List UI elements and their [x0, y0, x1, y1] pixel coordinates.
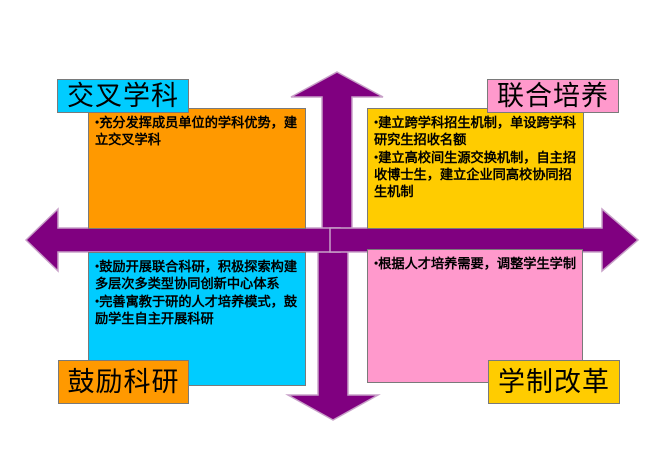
quadrant-label-text: 鼓励科研: [68, 369, 180, 396]
bullet-list-bottom-left: •鼓励开展联合科研，积极探索构建多层次多类型协同创新中心体系 •完善寓教于研的人…: [95, 259, 300, 328]
bullet-text: 完善寓教于研的人才培养模式，鼓励学生自主开展科研: [95, 294, 297, 326]
bullet-text: 鼓励开展联合科研，积极探索构建多层次多类型协同创新中心体系: [95, 259, 297, 291]
quadrant-label-top-left[interactable]: 交叉学科: [57, 79, 189, 113]
quadrant-box-top-right: •建立跨学科招生机制，单设跨学科研究生招收名额 •建立高校间生源交换机制，自主招…: [367, 108, 584, 229]
quadrant-label-text: 学制改革: [498, 369, 610, 396]
list-item: •完善寓教于研的人才培养模式，鼓励学生自主开展科研: [95, 294, 300, 328]
list-item: •根据人才培养需要，调整学生学制: [374, 256, 577, 273]
bullet-list-bottom-right: •根据人才培养需要，调整学生学制: [374, 256, 577, 273]
bullet-list-top-left: •充分发挥成员单位的学科优势，建立交叉学科: [95, 115, 300, 149]
list-item: •建立跨学科招生机制，单设跨学科研究生招收名额: [374, 115, 578, 149]
diagram-canvas: •充分发挥成员单位的学科优势，建立交叉学科 交叉学科 •建立跨学科招生机制，单设…: [0, 0, 660, 465]
quadrant-label-top-right[interactable]: 联合培养: [487, 79, 619, 113]
quadrant-label-bottom-left[interactable]: 鼓励科研: [58, 360, 189, 404]
quadrant-label-text: 交叉学科: [67, 83, 179, 110]
bullet-text: 充分发挥成员单位的学科优势，建立交叉学科: [95, 115, 297, 147]
bullet-text: 建立跨学科招生机制，单设跨学科研究生招收名额: [374, 115, 576, 147]
quadrant-box-top-left: •充分发挥成员单位的学科优势，建立交叉学科: [88, 108, 306, 229]
bullet-text: 根据人才培养需要，调整学生学制: [378, 256, 576, 271]
bullet-list-top-right: •建立跨学科招生机制，单设跨学科研究生招收名额 •建立高校间生源交换机制，自主招…: [374, 115, 578, 200]
quadrant-label-bottom-right[interactable]: 学制改革: [488, 360, 620, 404]
quadrant-label-text: 联合培养: [497, 83, 609, 110]
bullet-text: 建立高校间生源交换机制，自主招收博士生，建立企业同高校协同招生机制: [374, 150, 576, 199]
list-item: •充分发挥成员单位的学科优势，建立交叉学科: [95, 115, 300, 149]
list-item: •鼓励开展联合科研，积极探索构建多层次多类型协同创新中心体系: [95, 259, 300, 293]
list-item: •建立高校间生源交换机制，自主招收博士生，建立企业同高校协同招生机制: [374, 150, 578, 201]
